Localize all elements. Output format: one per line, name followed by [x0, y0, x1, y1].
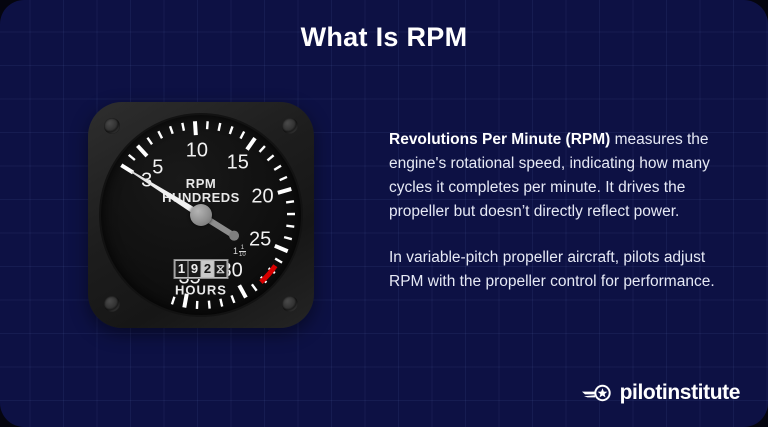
- hour-meter-odometer: 192⧖: [174, 259, 229, 279]
- brand-logo-text: pilotinstitute: [620, 381, 740, 405]
- body-copy: Revolutions Per Minute (RPM) measures th…: [389, 128, 719, 294]
- page-title: What Is RPM: [0, 22, 768, 53]
- odometer-digit: 2: [202, 261, 214, 277]
- tachometer-gauge: 35101520253035 RPM HUNDREDS 1 1 10 192⧖ …: [88, 102, 314, 328]
- caption-line-rpm: RPM: [162, 177, 240, 191]
- dial-numeral-10: 10: [186, 140, 208, 163]
- paragraph-2-rest: In variable-pitch propeller aircraft, pi…: [389, 249, 715, 290]
- gauge-dial-face: 35101520253035 RPM HUNDREDS 1 1 10 192⧖ …: [101, 115, 301, 315]
- paragraph-1: Revolutions Per Minute (RPM) measures th…: [389, 128, 719, 224]
- odometer-digit: ⧖: [215, 261, 227, 277]
- gauge-caption-hours: HOURS: [175, 283, 227, 298]
- dial-numeral-5: 5: [152, 156, 163, 179]
- infographic-card: What Is RPM 35101520253035 RPM HUNDREDS: [0, 0, 768, 427]
- tenth-whole: 1: [233, 247, 238, 256]
- paragraph-1-lead: Revolutions Per Minute (RPM): [389, 131, 610, 148]
- odometer-digit: 1: [176, 261, 188, 277]
- winged-star-shield-icon: [582, 383, 612, 403]
- dial-numeral-15: 15: [227, 151, 249, 174]
- dial-numeral-20: 20: [251, 186, 273, 209]
- odometer-digit: 9: [189, 261, 201, 277]
- brand-logo[interactable]: pilotinstitute: [582, 381, 740, 405]
- paragraph-2: In variable-pitch propeller aircraft, pi…: [389, 246, 719, 294]
- redline-arc: [261, 266, 275, 282]
- gauge-center-hub: [190, 204, 212, 226]
- tenth-fraction: 1 10: [239, 245, 246, 258]
- tenth-denominator: 10: [239, 251, 246, 258]
- dial-numeral-25: 25: [249, 228, 271, 251]
- gauge-tenth-fraction: 1 1 10: [233, 245, 246, 258]
